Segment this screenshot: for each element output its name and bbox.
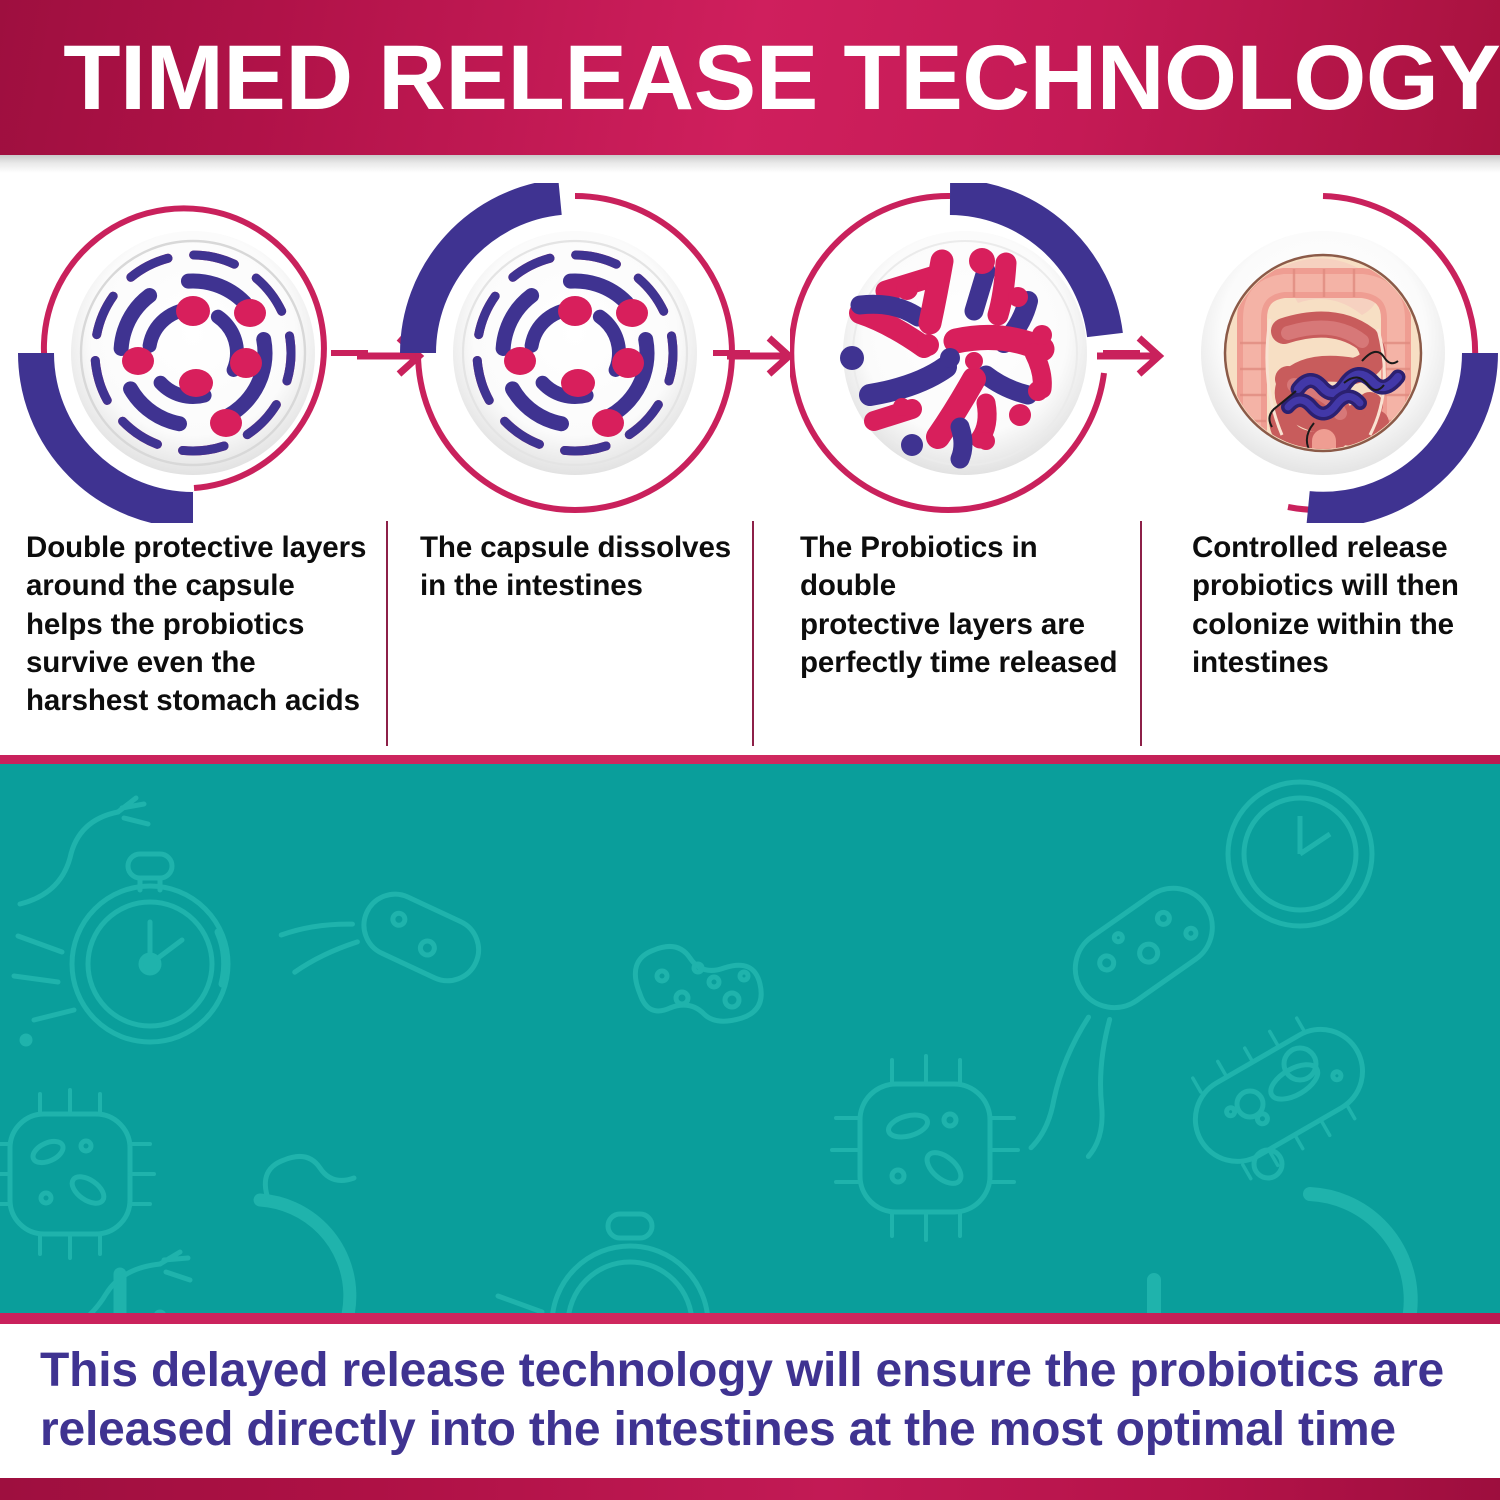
footer-statement: This delayed release technology will ens… bbox=[0, 1342, 1480, 1459]
step-1-caption-column: Double protective layers around the caps… bbox=[20, 521, 380, 746]
step-icons-row bbox=[0, 173, 1500, 523]
footer-section: This delayed release technology will ens… bbox=[0, 1324, 1500, 1478]
step-3-icon bbox=[790, 183, 1140, 523]
microbe-background-pattern bbox=[0, 764, 1500, 1313]
steps-section: Double protective layers around the caps… bbox=[0, 173, 1500, 755]
step-captions-row: Double protective layers around the caps… bbox=[0, 521, 1500, 755]
step-4-caption: Controlled release probiotics will then … bbox=[1140, 521, 1490, 682]
caption-divider-1 bbox=[386, 521, 388, 746]
step-1-caption: Double protective layers around the caps… bbox=[20, 521, 380, 721]
header-banner: TIMED RELEASE TECHNOLOGY bbox=[0, 0, 1500, 155]
crimson-strip-top bbox=[0, 755, 1500, 764]
step-3-caption: The Probiotics in double protective laye… bbox=[752, 521, 1134, 682]
step-3-caption-column: The Probiotics in double protective laye… bbox=[752, 521, 1134, 746]
illustration-section bbox=[0, 764, 1500, 1313]
crimson-strip-bottom bbox=[0, 1313, 1500, 1324]
step-4-caption-column: Controlled release probiotics will then … bbox=[1140, 521, 1490, 746]
step-1-icon bbox=[18, 183, 368, 523]
infographic-page: TIMED RELEASE TECHNOLOGY bbox=[0, 0, 1500, 1500]
step-4-icon bbox=[1148, 183, 1498, 523]
step-2-icon bbox=[400, 183, 750, 523]
step-2-caption-column: The capsule dissolves in the intestines bbox=[386, 521, 746, 746]
step-2-caption: The capsule dissolves in the intestines bbox=[386, 521, 746, 606]
caption-divider-2 bbox=[752, 521, 754, 746]
footer-crimson-bar bbox=[0, 1478, 1500, 1500]
page-title: TIMED RELEASE TECHNOLOGY bbox=[0, 32, 1500, 124]
header-shadow-divider bbox=[0, 155, 1500, 173]
caption-divider-3 bbox=[1140, 521, 1142, 746]
